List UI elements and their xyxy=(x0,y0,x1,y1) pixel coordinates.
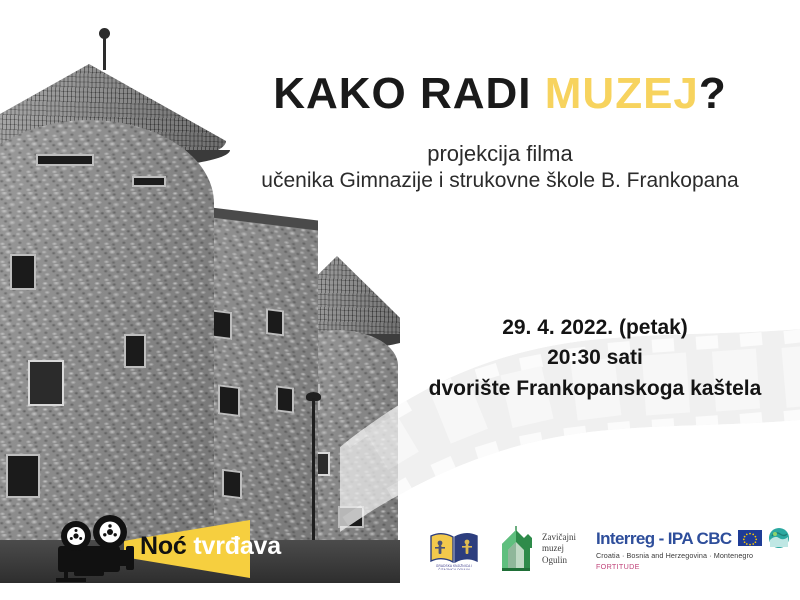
interreg-title: Interreg - IPA CBC xyxy=(596,530,732,547)
subtitle: projekcija filma učenika Gimnazije i str… xyxy=(200,140,800,194)
window xyxy=(276,385,294,413)
library-logo: GRADSKA KNJIŽNICA I ČITAONICA OGULIN xyxy=(428,526,480,572)
window xyxy=(36,154,94,166)
event-time: 20:30 sati xyxy=(400,343,790,373)
event-poster: KAKO RADI MUZEJ? projekcija filma učenik… xyxy=(0,0,800,600)
subtitle-line-2: učenika Gimnazije i strukovne škole B. F… xyxy=(200,168,800,194)
headline-question-mark: ? xyxy=(699,69,727,118)
window xyxy=(222,469,242,499)
museum-logo: Zavičajni muzej Ogulin xyxy=(494,524,576,574)
event-date: 29. 4. 2022. (petak) xyxy=(400,313,790,343)
window xyxy=(212,310,232,340)
spire xyxy=(103,34,106,70)
interreg-programme: FORTITUDE xyxy=(596,562,790,571)
open-book-icon: GRADSKA KNJIŽNICA I ČITAONICA OGULIN xyxy=(428,526,480,572)
lamp-post xyxy=(312,398,315,548)
interreg-subtitle: Croatia · Bosnia and Herzegovina · Monte… xyxy=(596,551,790,560)
subtitle-line-1: projekcija filma xyxy=(200,140,800,168)
window xyxy=(266,308,284,336)
library-logo-caption: GRADSKA KNJIŽNICA I ČITAONICA OGULIN xyxy=(431,564,477,570)
window xyxy=(338,506,364,528)
window xyxy=(28,360,64,406)
museum-line-2: muzej xyxy=(542,543,576,554)
headline-highlight: MUZEJ xyxy=(545,69,699,118)
event-venue: dvorište Frankopanskoga kaštela xyxy=(400,374,790,404)
fortitude-badge-icon xyxy=(768,527,790,549)
window xyxy=(132,176,166,187)
window xyxy=(10,254,36,290)
brand-text: Noć tvrđava xyxy=(140,532,370,561)
window xyxy=(6,454,40,498)
eu-flag-icon xyxy=(738,530,762,546)
interreg-logo: Interreg - IPA CBC xyxy=(596,527,790,571)
window xyxy=(218,384,240,417)
sponsor-logos: GRADSKA KNJIŽNICA I ČITAONICA OGULIN Zav… xyxy=(428,521,790,577)
spire-finial xyxy=(99,28,110,39)
museum-building-icon xyxy=(494,524,538,574)
museum-line-1: Zavičajni xyxy=(542,532,576,543)
event-details: 29. 4. 2022. (petak) 20:30 sati dvorište… xyxy=(400,313,790,404)
brand-word-tvrdava: tvrđava xyxy=(187,532,281,560)
headline-part1: KAKO RADI xyxy=(273,69,545,118)
page-title: KAKO RADI MUZEJ? xyxy=(210,72,790,116)
museum-logo-text: Zavičajni muzej Ogulin xyxy=(542,532,576,566)
brand-word-noc: Noć xyxy=(140,532,187,560)
noc-tvrdava-lockup: Noć tvrđava xyxy=(52,508,312,584)
museum-line-3: Ogulin xyxy=(542,555,576,566)
window xyxy=(124,334,146,368)
